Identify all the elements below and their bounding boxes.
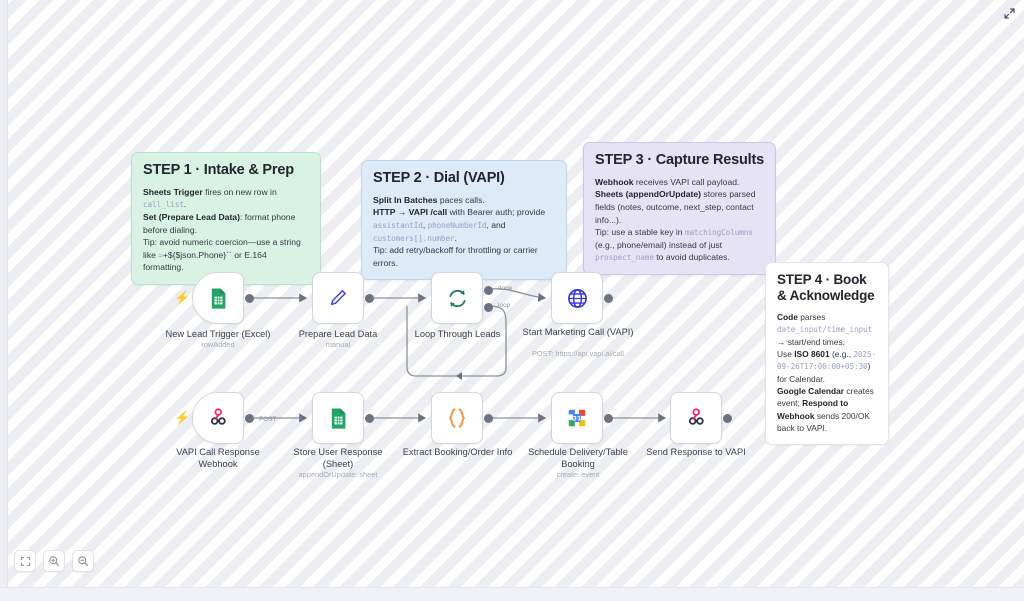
- node-schedule-booking[interactable]: 31: [551, 392, 603, 444]
- webhook-icon: [685, 407, 707, 429]
- note-title: STEP 1 · Intake & Prep: [143, 162, 309, 180]
- loop-refresh-icon: [446, 287, 469, 310]
- expand-fullscreen-button[interactable]: [1000, 4, 1018, 22]
- zoom-in-button[interactable]: [43, 550, 65, 572]
- node-label-schedule-booking: Schedule Delivery/Table Booking: [519, 446, 637, 470]
- node-sublabel-new-lead-trigger: rowAdded: [155, 340, 281, 350]
- globe-http-icon: [566, 287, 589, 310]
- trigger-bolt-icon: ⚡: [174, 411, 190, 424]
- note-title: STEP 2 · Dial (VAPI): [373, 170, 555, 188]
- node-label-vapi-call-response-webhook: VAPI Call Response Webhook: [156, 446, 280, 470]
- google-calendar-icon: 31: [566, 407, 588, 429]
- note-body: Split In Batches paces calls.HTTP → VAPI…: [373, 194, 555, 270]
- input-port[interactable]: [304, 413, 311, 423]
- input-port[interactable]: [423, 293, 430, 303]
- left-gutter: [0, 0, 8, 601]
- node-sublabel-store-user-response: appendOrUpdate: sheet: [272, 470, 404, 480]
- output-port[interactable]: [604, 414, 613, 423]
- bottom-status-bar: [0, 587, 1024, 601]
- canvas-controls: [14, 550, 94, 572]
- input-port[interactable]: [304, 293, 311, 303]
- google-sheets-icon: [327, 407, 350, 430]
- node-label-extract-booking-info: Extract Booking/Order Info: [401, 446, 514, 458]
- input-port[interactable]: [662, 413, 669, 423]
- output-port[interactable]: [484, 414, 493, 423]
- node-vapi-call-response-webhook[interactable]: POST: [192, 392, 244, 444]
- node-sublabel-schedule-booking: create: event: [519, 470, 637, 480]
- node-label-send-response-to-vapi: Send Response to VAPI: [636, 446, 756, 458]
- node-start-marketing-call[interactable]: [551, 272, 603, 324]
- output-port-loop[interactable]: [484, 303, 493, 312]
- output-port[interactable]: [365, 414, 374, 423]
- output-port[interactable]: [245, 294, 254, 303]
- trigger-bolt-icon: ⚡: [174, 291, 190, 304]
- note-body: Sheets Trigger fires on new row in call_…: [143, 186, 309, 274]
- input-port[interactable]: [543, 293, 550, 303]
- node-prepare-lead-data[interactable]: [312, 272, 364, 324]
- node-extract-booking-info[interactable]: [431, 392, 483, 444]
- node-loop-through-leads[interactable]: done loop: [431, 272, 483, 324]
- zoom-out-icon: [77, 555, 89, 567]
- output-port[interactable]: [365, 294, 374, 303]
- sticky-note-step-1[interactable]: STEP 1 · Intake & Prep Sheets Trigger fi…: [131, 152, 321, 285]
- output-port[interactable]: [245, 414, 254, 423]
- zoom-out-button[interactable]: [72, 550, 94, 572]
- edit-pen-icon: [327, 287, 349, 309]
- workflow-canvas-app: STEP 1 · Intake & Prep Sheets Trigger fi…: [0, 0, 1024, 601]
- node-send-response-to-vapi[interactable]: [670, 392, 722, 444]
- node-store-user-response[interactable]: [312, 392, 364, 444]
- note-body: Code parses date_input/time_input → star…: [777, 311, 877, 434]
- input-port[interactable]: [423, 413, 430, 423]
- output-port-done[interactable]: [484, 286, 493, 295]
- code-braces-icon: [445, 406, 469, 430]
- google-sheets-icon: [207, 287, 230, 310]
- sticky-note-step-4[interactable]: STEP 4 · Book & Acknowledge Code parses …: [765, 262, 889, 445]
- output-port[interactable]: [723, 414, 732, 423]
- output-port[interactable]: [604, 294, 613, 303]
- svg-text:31: 31: [573, 414, 582, 422]
- output-label-post: POST: [259, 416, 277, 423]
- node-sublabel-prepare-lead-data: manual: [277, 340, 399, 350]
- zoom-in-icon: [48, 555, 60, 567]
- note-body: Webhook receives VAPI call payload.Sheet…: [595, 176, 764, 264]
- fit-screen-icon: [20, 556, 31, 567]
- node-label-start-marketing-call: Start Marketing Call (VAPI): [519, 326, 637, 338]
- note-title: STEP 3 · Capture Results: [595, 152, 764, 170]
- webhook-icon: [207, 407, 229, 429]
- node-label-prepare-lead-data: Prepare Lead Data: [277, 328, 399, 340]
- output-label-loop: loop: [498, 302, 510, 309]
- node-label-loop-through-leads: Loop Through Leads: [399, 328, 516, 340]
- sticky-note-step-3[interactable]: STEP 3 · Capture Results Webhook receive…: [583, 142, 776, 275]
- note-title: STEP 4 · Book & Acknowledge: [777, 272, 877, 305]
- output-label-done: done: [498, 285, 512, 292]
- expand-arrows-icon: [1003, 7, 1016, 20]
- node-label-store-user-response: Store User Response (Sheet): [282, 446, 394, 470]
- fit-view-button[interactable]: [14, 550, 36, 572]
- input-port[interactable]: [543, 413, 550, 423]
- node-new-lead-trigger[interactable]: [192, 272, 244, 324]
- node-sublabel-start-marketing-call: POST: https://api.vapi.ai/call: [511, 349, 645, 359]
- node-label-new-lead-trigger: New Lead Trigger (Excel): [155, 328, 281, 340]
- sticky-note-step-2[interactable]: STEP 2 · Dial (VAPI) Split In Batches pa…: [361, 160, 567, 280]
